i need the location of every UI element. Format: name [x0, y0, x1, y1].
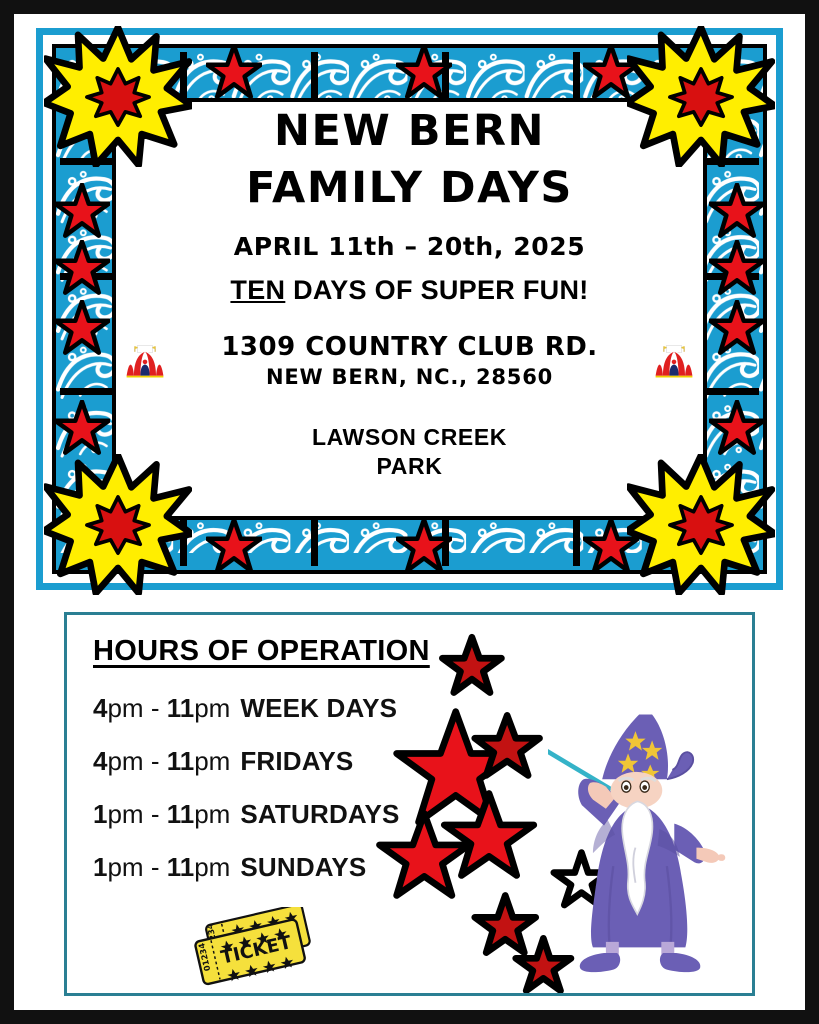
hours-dash: -: [144, 799, 167, 829]
hours-panel: HOURS OF OPERATION 4pm - 11pmWEEK DAYS 4…: [64, 612, 755, 996]
hours-day-label: SUNDAYS: [240, 852, 366, 882]
hours-end-meridiem: pm: [194, 693, 230, 723]
tagline-underlined-word: TEN: [230, 275, 285, 305]
tagline-rest: DAYS OF SUPER FUN!: [285, 275, 588, 305]
circus-tent-icon: [651, 338, 697, 384]
hours-start: 4: [93, 693, 107, 723]
hours-end: 11: [167, 746, 195, 776]
hours-row: 1pm - 11pmSATURDAYS: [93, 799, 400, 830]
venue-line-2: PARK: [377, 452, 443, 481]
hours-dash: -: [144, 852, 167, 882]
starburst-top-left: [44, 26, 192, 164]
event-dates: APRIL 11th – 20th, 2025: [234, 232, 585, 261]
ticket-graphic: 01234 01234 TICKET: [184, 907, 334, 989]
tagline: TEN DAYS OF SUPER FUN!: [230, 275, 588, 306]
hours-row: 4pm - 11pmWEEK DAYS: [93, 693, 400, 724]
circus-tent-icon: [122, 338, 168, 384]
venue-block: LAWSON CREEK PARK: [312, 423, 507, 481]
hours-dash: -: [144, 746, 167, 776]
hours-start-meridiem: pm: [107, 852, 143, 882]
starburst-bottom-right: [627, 454, 775, 592]
hours-end: 11: [167, 799, 195, 829]
hours-row: 1pm - 11pmSUNDAYS: [93, 852, 400, 883]
hours-day-label: FRIDAYS: [240, 746, 353, 776]
address-line-1: 1309 COUNTRY CLUB RD.: [221, 332, 597, 362]
hours-day-label: WEEK DAYS: [240, 693, 397, 723]
address-lines: 1309 COUNTRY CLUB RD. NEW BERN, NC., 285…: [221, 332, 597, 389]
hours-start: 4: [93, 746, 107, 776]
hours-end-meridiem: pm: [194, 799, 230, 829]
poster-root: NEW BERN FAMILY DAYS APRIL 11th – 20th, …: [0, 0, 819, 1024]
hours-end-meridiem: pm: [194, 852, 230, 882]
hours-row: 4pm - 11pmFRIDAYS: [93, 746, 400, 777]
hours-start: 1: [93, 852, 107, 882]
hours-list: 4pm - 11pmWEEK DAYS 4pm - 11pmFRIDAYS 1p…: [93, 693, 400, 883]
starburst-bottom-left: [44, 454, 192, 592]
hours-heading: HOURS OF OPERATION: [93, 635, 430, 668]
hours-start: 1: [93, 799, 107, 829]
wizard-illustration: [548, 709, 734, 977]
hours-end: 11: [167, 693, 195, 723]
address-row: 1309 COUNTRY CLUB RD. NEW BERN, NC., 285…: [96, 332, 723, 389]
hours-start-meridiem: pm: [107, 693, 143, 723]
hours-end-meridiem: pm: [194, 746, 230, 776]
starburst-top-right: [627, 26, 775, 164]
hours-day-label: SATURDAYS: [240, 799, 399, 829]
title-line-2: FAMILY DAYS: [246, 167, 573, 210]
title-line-1: NEW BERN: [274, 110, 545, 153]
address-line-2: NEW BERN, NC., 28560: [266, 365, 553, 389]
hours-start-meridiem: pm: [107, 746, 143, 776]
venue-line-1: LAWSON CREEK: [312, 423, 507, 452]
poster-paper: NEW BERN FAMILY DAYS APRIL 11th – 20th, …: [14, 14, 805, 1010]
hours-dash: -: [144, 693, 167, 723]
top-flyer-panel: NEW BERN FAMILY DAYS APRIL 11th – 20th, …: [36, 28, 783, 590]
hours-start-meridiem: pm: [107, 799, 143, 829]
hours-end: 11: [167, 852, 195, 882]
